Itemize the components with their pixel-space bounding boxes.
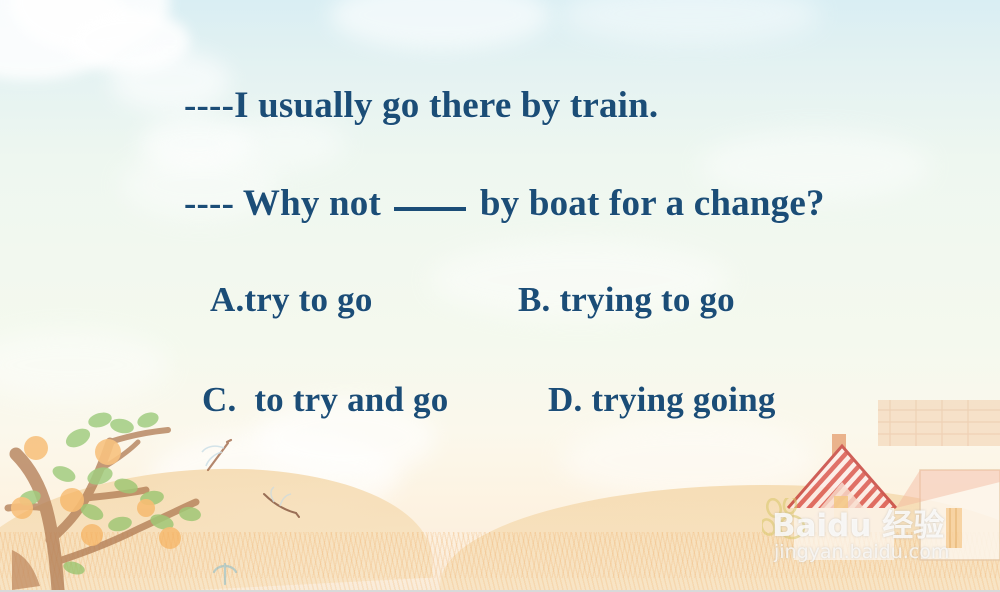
dragonfly-icon <box>208 560 242 590</box>
question-line-1: ----I usually go there by train. <box>184 84 658 127</box>
dragonfly-icon <box>258 486 302 520</box>
watermark-url: jingyan.baidu.com <box>774 541 949 563</box>
option-c[interactable]: C. to try and go <box>202 380 448 420</box>
grass-texture <box>0 532 1000 590</box>
hill-icon <box>440 485 1000 590</box>
option-b[interactable]: B. trying to go <box>518 280 735 320</box>
cloud-icon <box>70 10 190 72</box>
cloud-icon <box>10 0 170 52</box>
question-line-2-after-blank: by boat for a change? <box>470 183 824 224</box>
cloud-icon <box>0 330 170 400</box>
option-d[interactable]: D. trying going <box>548 380 776 420</box>
cloud-icon <box>560 0 820 44</box>
dragonfly-icon <box>198 438 238 474</box>
cloud-icon <box>330 0 550 50</box>
house-with-red-roof-icon <box>770 400 1000 590</box>
answer-blank[interactable] <box>394 207 466 211</box>
baidu-paw-icon <box>762 498 814 544</box>
hill-icon <box>0 458 433 592</box>
cloud-icon <box>150 430 400 520</box>
baidu-watermark: Baidu 经验 jingyan.baidu.com <box>762 496 992 576</box>
slide-canvas: ----I usually go there by train. ---- Wh… <box>0 0 1000 592</box>
question-line-2: ---- Why not by boat for a change? <box>184 182 825 225</box>
cloud-icon <box>0 0 130 80</box>
option-a[interactable]: A.try to go <box>210 280 373 320</box>
persimmon-tree-icon <box>0 390 280 590</box>
cloud-icon <box>560 420 820 500</box>
grass-texture <box>0 532 1000 578</box>
watermark-brand: Baidu 经验 <box>772 500 944 545</box>
ground-layer <box>0 440 1000 590</box>
question-line-2-before-blank: ---- Why not <box>184 183 390 224</box>
